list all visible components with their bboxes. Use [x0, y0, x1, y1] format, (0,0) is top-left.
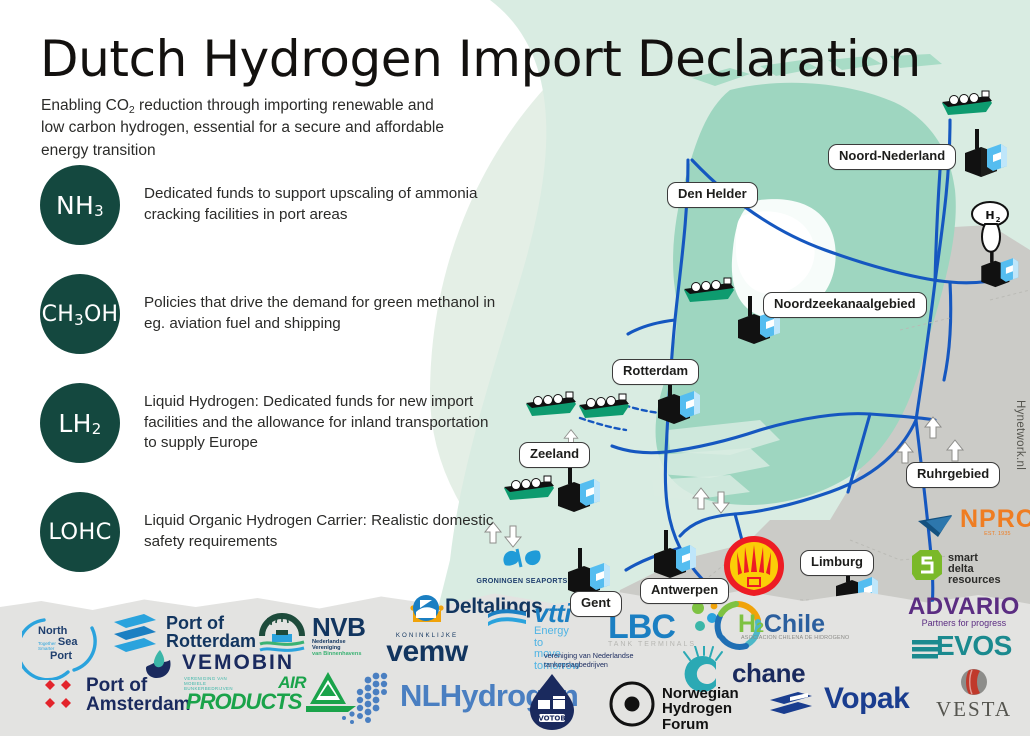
badge-lh2: LH2	[40, 383, 120, 463]
h2chile-caption: ASOCIACION CHILENA DE HIDROGENO	[741, 635, 849, 641]
evos-text: EVOS	[936, 632, 1012, 661]
logo-north-sea-port: North Together Smarter Sea Port	[22, 610, 108, 680]
nlhydrogen-dots-icon	[336, 670, 398, 726]
badge-lh2-main: LH	[58, 409, 91, 438]
votob-cap2: tankopslagbedrijven	[544, 661, 634, 670]
industry-plant-icon	[552, 462, 602, 514]
nvb-text: NVB	[312, 614, 365, 641]
map-label-noord-nederland[interactable]: Noord-Nederland	[828, 144, 956, 170]
vopak-text: Vopak	[824, 684, 909, 715]
deltalinqs-mark-icon	[412, 594, 440, 622]
vemw-text: vemw	[372, 637, 482, 668]
industry-plant-icon	[648, 528, 698, 580]
smart-delta-mark-icon	[912, 548, 942, 582]
nhf-line1: Norwegian	[662, 686, 739, 701]
bullet-lohc: LOHC Liquid Organic Hydrogen Carrier: Re…	[40, 492, 500, 572]
nprc-mark-icon	[916, 511, 956, 541]
svg-text:H: H	[985, 209, 994, 222]
vtti-cap1: Energy to	[534, 626, 580, 649]
map-label-limburg[interactable]: Limburg	[800, 550, 874, 576]
industry-plant-icon	[959, 127, 1009, 179]
vopak-mark-icon	[768, 688, 818, 722]
por-line2: Rotterdam	[166, 632, 256, 650]
por-line1: Port of	[166, 614, 256, 632]
nhf-line2: Hydrogen Forum	[662, 701, 739, 732]
tanker-ship-icon	[938, 85, 996, 119]
badge-ch3oh: CH3OH	[40, 274, 120, 354]
h2chile-h: H	[738, 610, 756, 638]
port-of-amsterdam-mark-icon	[40, 674, 80, 716]
smart-delta-line1: smart delta	[948, 553, 1001, 575]
groningen-seaports-text: GRONINGEN SEAPORTS	[472, 577, 572, 584]
hydrogen-storage-icon: H 2	[968, 200, 1012, 256]
lbc-text: LBC	[608, 610, 696, 645]
badge-ch3oh-sub: 3	[74, 311, 84, 329]
bullet-ch3oh: CH3OH Policies that drive the demand for…	[40, 274, 500, 354]
badge-nh3: NH3	[40, 165, 120, 245]
tanker-ship-icon	[500, 470, 558, 504]
bullet-lh2-text: Liquid Hydrogen: Dedicated funds for new…	[144, 392, 500, 454]
map-label-gent[interactable]: Gent	[570, 591, 622, 617]
svg-text:2: 2	[996, 216, 1001, 224]
badge-lohc: LOHC	[40, 492, 120, 572]
vemobin-text: VEMOBIN	[182, 652, 294, 673]
map-attribution: Hynetwork.nl	[1014, 400, 1026, 470]
map-label-rotterdam[interactable]: Rotterdam	[612, 359, 699, 385]
tanker-ship-icon	[522, 386, 580, 420]
badge-lh2-sub: 2	[92, 420, 102, 438]
map-label-ruhrgebied[interactable]: Ruhrgebied	[906, 462, 1000, 488]
advario-caption: Partners for progress	[908, 618, 1020, 628]
badge-lohc-main: LOHC	[48, 519, 111, 545]
import-arrow-icon	[942, 438, 968, 464]
page-title: Dutch Hydrogen Import Declaration	[40, 30, 921, 88]
nprc-text: NPRC	[960, 507, 1030, 533]
badge-nh3-sub: 3	[94, 202, 104, 220]
nsp-line3: Port	[50, 651, 77, 662]
bullet-lohc-text: Liquid Organic Hydrogen Carrier: Realist…	[144, 511, 500, 552]
svg-text:VOTOB: VOTOB	[538, 715, 565, 723]
map-label-den-helder[interactable]: Den Helder	[667, 182, 758, 208]
votob-droplet-icon: VOTOB	[526, 672, 578, 732]
map-label-noordzeekanaalgebied[interactable]: Noordzeekanaalgebied	[763, 292, 927, 318]
bullet-nh3-text: Dedicated funds to support upscaling of …	[144, 184, 500, 225]
badge-nh3-main: NH	[56, 191, 94, 220]
vesta-text: VESTA	[924, 699, 1024, 720]
bullet-list: NH3 Dedicated funds to support upscaling…	[40, 165, 500, 601]
logo-advario: ADVARIO Partners for progress	[908, 595, 1020, 628]
nsp-line2: Sea	[58, 637, 78, 648]
nhf-atom-icon	[608, 680, 656, 728]
evos-bars-icon	[912, 637, 938, 661]
groningen-seaports-mark	[499, 545, 545, 571]
tanker-ship-icon	[575, 388, 633, 422]
chane-text: chane	[732, 660, 805, 687]
bullet-nh3: NH3 Dedicated funds to support upscaling…	[40, 165, 500, 245]
map-label-zeeland[interactable]: Zeeland	[519, 442, 590, 468]
poa-line1: Port of	[86, 676, 191, 695]
logo-lbc: LBC TANK TERMINALS	[608, 610, 696, 648]
bullet-ch3oh-text: Policies that drive the demand for green…	[144, 293, 500, 334]
badge-ch3oh-main-a: CH	[42, 302, 75, 327]
subtitle-part-a: Enabling CO	[41, 97, 129, 114]
h2chile-chile: Chile	[764, 610, 825, 638]
h2chile-sub: 2	[756, 619, 764, 635]
poa-line2: Amsterdam	[86, 695, 191, 714]
partner-logo-band: North Together Smarter Sea Port Port of	[0, 586, 1030, 736]
nvb-cap2: van Binnenhavens	[312, 651, 365, 657]
logo-groningen-seaports: GRONINGEN SEAPORTS	[472, 545, 572, 584]
advario-text: ADVARIO	[908, 595, 1020, 619]
subtitle-co2-subscript: 2	[129, 104, 135, 116]
air-products-line2: PRODUCTS	[186, 691, 306, 713]
logo-vesta: VESTA	[924, 668, 1024, 720]
infographic-canvas: H 2	[0, 0, 1030, 736]
vtti-text: vtti	[534, 600, 571, 627]
badge-ch3oh-main-b: OH	[84, 302, 118, 327]
bullet-lh2: LH2 Liquid Hydrogen: Dedicated funds for…	[40, 383, 500, 463]
export-arrow-icon	[708, 489, 734, 515]
vtti-waves-icon	[486, 606, 530, 630]
page-subtitle: Enabling CO2 reduction through importing…	[41, 95, 461, 162]
smart-delta-line2: resources	[948, 575, 1001, 586]
tanker-ship-icon	[680, 272, 738, 306]
map-label-antwerpen[interactable]: Antwerpen	[640, 578, 729, 604]
vesta-sphere-icon	[960, 668, 988, 696]
